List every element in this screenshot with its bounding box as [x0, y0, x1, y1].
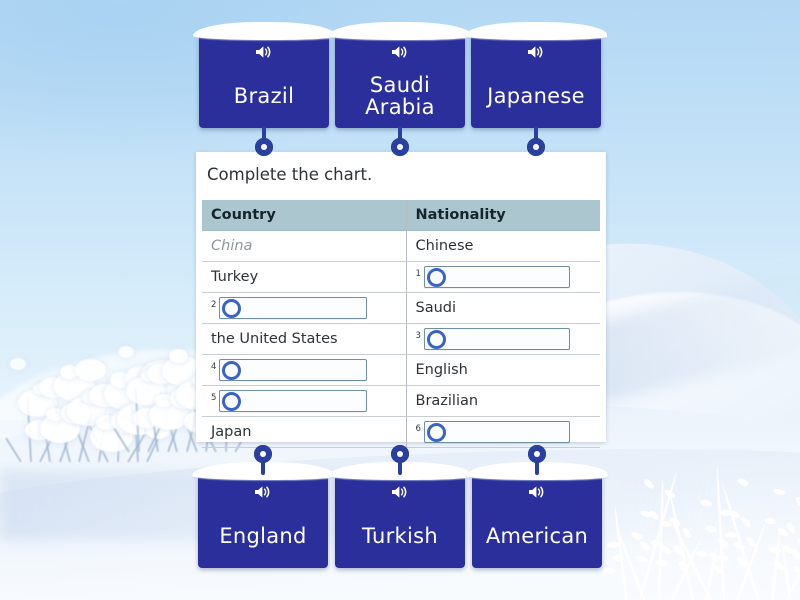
snow-puff	[75, 359, 106, 381]
table-row: 4English	[202, 355, 600, 386]
speaker-icon[interactable]	[391, 45, 409, 64]
snow-cap	[193, 22, 335, 40]
cell-text: Brazilian	[416, 393, 479, 409]
cell-text: Turkey	[211, 269, 258, 285]
drop-cell-country: 2	[202, 293, 406, 324]
cell-nationality: Saudi	[406, 293, 600, 324]
drop-slot-5[interactable]: 5	[211, 390, 406, 412]
drop-target-ring	[427, 268, 446, 287]
cell-nationality: Brazilian	[406, 386, 600, 417]
slot-number: 3	[416, 332, 423, 341]
column-header-nationality: Nationality	[406, 200, 600, 231]
frost-leaf	[740, 516, 752, 529]
pin-knob	[528, 445, 546, 463]
slot-number: 2	[211, 301, 218, 310]
drop-target-box[interactable]	[424, 266, 570, 288]
drop-cell-country: 4	[202, 355, 406, 386]
pin-knob	[254, 445, 272, 463]
table-header-row: Country Nationality	[202, 200, 600, 231]
slot-number: 6	[416, 425, 423, 434]
pin-icon	[255, 126, 273, 156]
word-tile-saudi-arabia[interactable]: Saudi Arabia	[335, 33, 465, 128]
frost-leaf	[630, 531, 643, 541]
word-tile-label: Saudi Arabia	[335, 64, 465, 128]
worksheet-panel: Complete the chart. Country Nationality …	[196, 152, 606, 442]
drop-target-box[interactable]	[424, 328, 570, 350]
cell-nationality: English	[406, 355, 600, 386]
frost-leaf	[773, 488, 786, 496]
pin-knob	[255, 138, 273, 156]
frosted-grass-right	[600, 430, 800, 600]
pin-icon	[391, 126, 409, 156]
table-row: 5Brazilian	[202, 386, 600, 417]
drop-target-ring	[222, 392, 241, 411]
frost-leaf	[704, 524, 717, 533]
cell-country: Japan	[202, 417, 406, 448]
pin-knob	[391, 138, 409, 156]
cell-nationality: Chinese	[406, 231, 600, 262]
drop-target-ring	[427, 330, 446, 349]
pin-knob	[527, 138, 545, 156]
word-tile-label: Turkish	[356, 504, 444, 568]
drop-target-ring	[222, 361, 241, 380]
drop-cell-nationality: 6	[406, 417, 600, 448]
complete-the-chart-table: Country Nationality ChinaChineseTurkey12…	[202, 200, 600, 448]
frost-leaf	[699, 498, 712, 507]
cell-text: Saudi	[416, 300, 457, 316]
drop-target-box[interactable]	[219, 297, 367, 319]
snow-cap	[329, 22, 471, 40]
cell-country: the United States	[202, 324, 406, 355]
pin-icon	[254, 445, 272, 475]
cell-text: the United States	[211, 331, 338, 347]
drop-slot-2[interactable]: 2	[211, 297, 406, 319]
cell-text: China	[211, 238, 252, 254]
frost-leaf	[639, 540, 652, 553]
pin-icon	[391, 445, 409, 475]
slot-number: 4	[211, 363, 218, 372]
word-tile-turkish[interactable]: Turkish	[335, 473, 465, 568]
frost-leaf	[681, 526, 693, 539]
speaker-icon[interactable]	[391, 485, 409, 504]
word-tile-american[interactable]: American	[472, 473, 602, 568]
drop-cell-nationality: 1	[406, 262, 600, 293]
word-tile-brazil[interactable]: Brazil	[199, 33, 329, 128]
speaker-icon[interactable]	[254, 485, 272, 504]
snow-cap	[465, 22, 607, 40]
cell-text: Chinese	[416, 238, 474, 254]
frost-leaf	[648, 509, 661, 522]
frost-leaf	[635, 554, 648, 564]
drop-cell-nationality: 3	[406, 324, 600, 355]
page-title: Complete the chart.	[196, 152, 606, 184]
word-tile-label: England	[213, 504, 312, 568]
frost-leaf	[792, 565, 800, 575]
snow-puff	[10, 358, 26, 370]
table-row: the United States3	[202, 324, 600, 355]
slot-number: 1	[416, 270, 423, 279]
frost-leaf	[643, 478, 656, 491]
pin-icon	[527, 126, 545, 156]
snow-puff	[118, 346, 134, 358]
drop-target-ring	[222, 299, 241, 318]
table-row: ChinaChinese	[202, 231, 600, 262]
speaker-icon[interactable]	[255, 45, 273, 64]
word-tile-england[interactable]: England	[198, 473, 328, 568]
speaker-icon[interactable]	[528, 485, 546, 504]
pin-icon	[528, 445, 546, 475]
frost-leaf	[796, 537, 800, 547]
slot-number: 5	[211, 394, 218, 403]
word-tile-label: American	[480, 504, 594, 568]
drop-cell-country: 5	[202, 386, 406, 417]
frost-leaf	[736, 477, 749, 488]
drop-target-box[interactable]	[219, 390, 367, 412]
grass-blade	[715, 464, 726, 600]
frost-leaf	[790, 547, 800, 560]
drop-slot-6[interactable]: 6	[416, 421, 601, 443]
frost-leaf	[794, 495, 800, 508]
table-row: Turkey1	[202, 262, 600, 293]
cell-text: English	[416, 362, 468, 378]
table-row: 2Saudi	[202, 293, 600, 324]
drop-target-box[interactable]	[424, 421, 570, 443]
cell-country: Turkey	[202, 262, 406, 293]
pin-knob	[391, 445, 409, 463]
drop-slot-1[interactable]: 1	[416, 266, 601, 288]
drop-target-ring	[427, 423, 446, 442]
drop-slot-4[interactable]: 4	[211, 359, 406, 381]
frost-leaf	[603, 568, 615, 574]
drop-target-box[interactable]	[219, 359, 367, 381]
frost-leaf	[695, 549, 708, 558]
word-tile-japanese[interactable]: Japanese	[471, 33, 601, 128]
column-header-country: Country	[202, 200, 406, 231]
drop-slot-3[interactable]: 3	[416, 328, 601, 350]
cell-country: China	[202, 231, 406, 262]
word-tile-label: Japanese	[481, 64, 591, 128]
table-row: Japan6	[202, 417, 600, 448]
speaker-icon[interactable]	[527, 45, 545, 64]
word-tile-label: Brazil	[228, 64, 300, 128]
snow-puff	[169, 349, 188, 363]
cell-text: Japan	[211, 424, 251, 440]
